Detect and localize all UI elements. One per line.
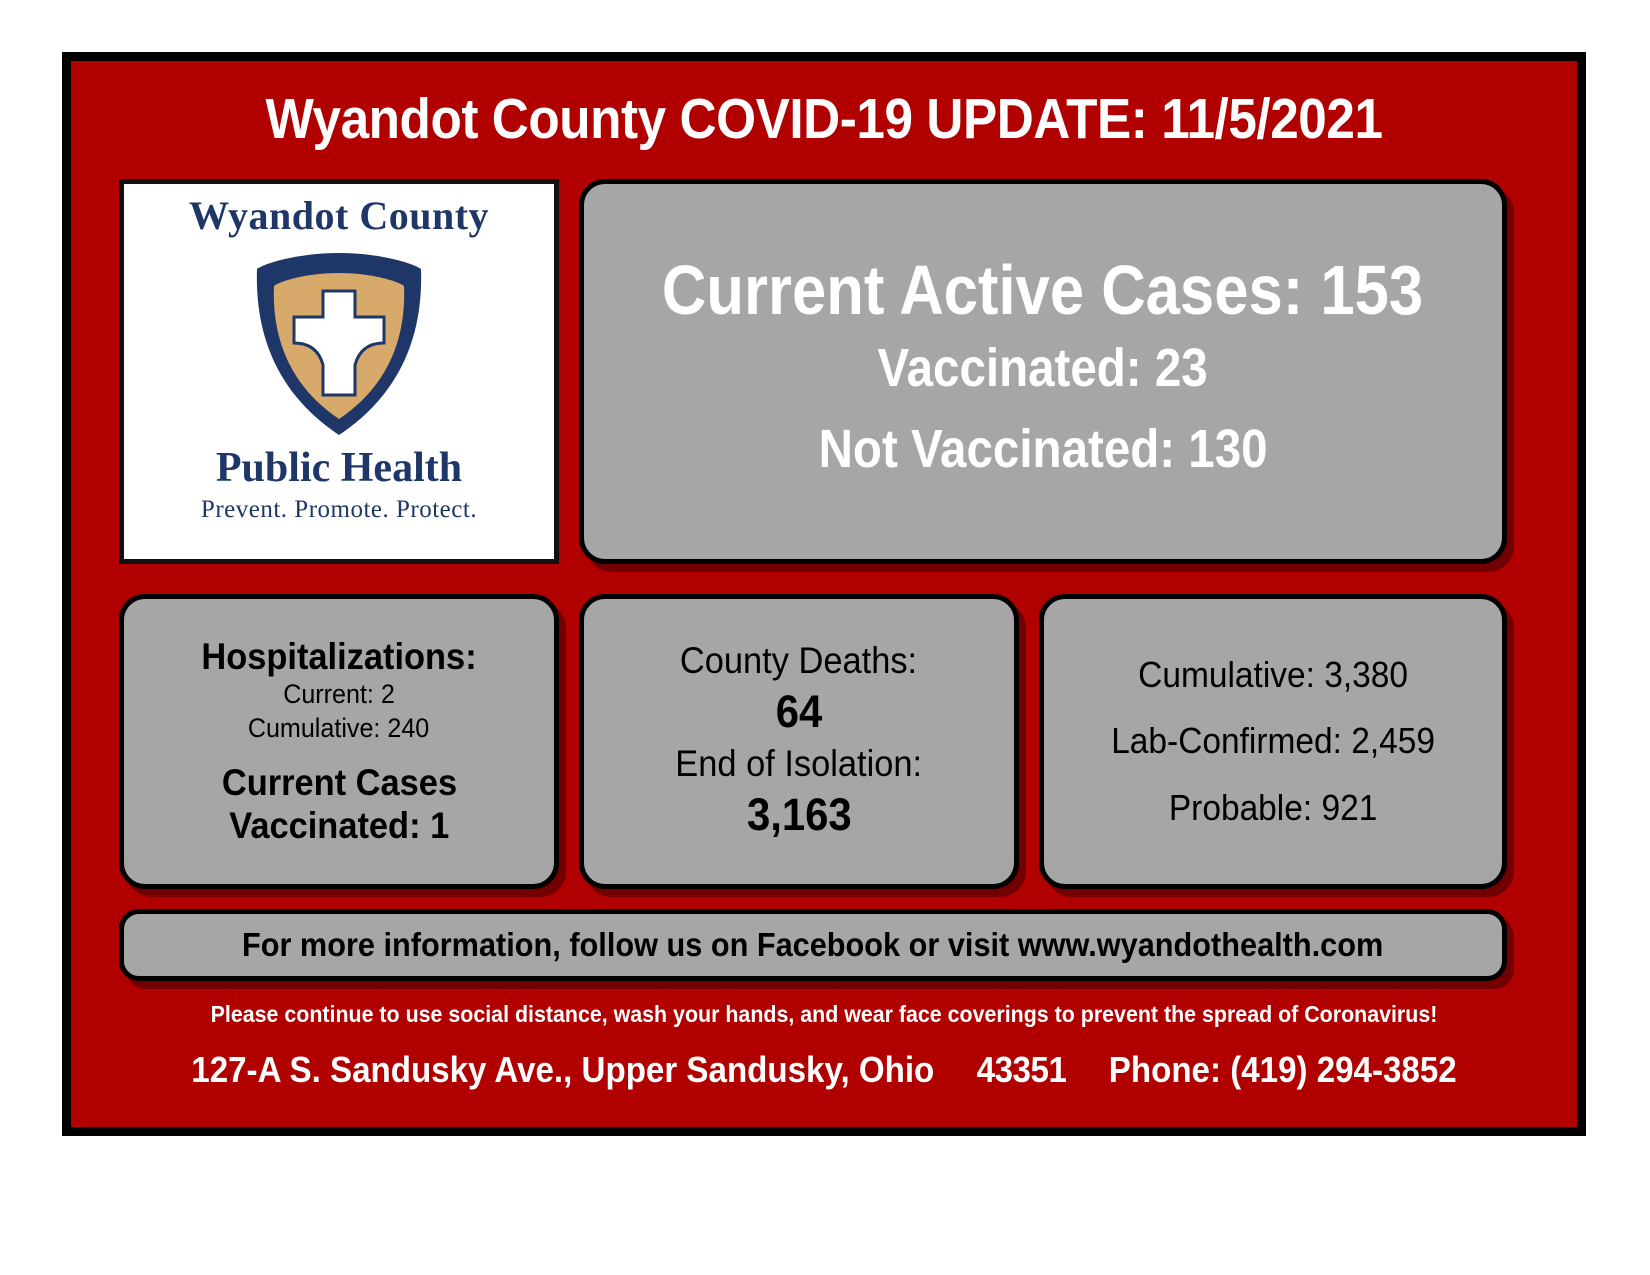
county-deaths-count: 64 <box>776 683 823 742</box>
active-cases-headline: Current Active Cases: 153 <box>662 253 1423 329</box>
hospitalizations-cumulative: Cumulative: 240 <box>248 712 429 746</box>
logo-line-2: Public Health <box>216 447 462 489</box>
active-cases-card: Current Active Cases: 153 Vaccinated: 23… <box>579 179 1507 564</box>
safety-disclaimer: Please continue to use social distance, … <box>124 1001 1525 1028</box>
logo-line-1: Wyandot County <box>189 196 489 236</box>
cumulative-cases-card: Cumulative: 3,380 Lab-Confirmed: 2,459 P… <box>1039 594 1507 889</box>
cumulative-total: Cumulative: 3,380 <box>1138 642 1408 709</box>
phone-number: Phone: (419) 294-3852 <box>1109 1049 1457 1090</box>
page-title: Wyandot County COVID-19 UPDATE: 11/5/202… <box>146 91 1501 148</box>
end-of-isolation-count: 3,163 <box>747 786 852 845</box>
hospitalizations-card: Hospitalizations: Current: 2 Cumulative:… <box>119 594 559 889</box>
cumulative-probable: Probable: 921 <box>1169 775 1377 842</box>
county-deaths-card: County Deaths: 64 End of Isolation: 3,16… <box>579 594 1019 889</box>
zip-code: 43351 <box>977 1049 1067 1090</box>
shield-cross-icon <box>239 240 439 445</box>
active-cases-vaccinated: Vaccinated: 23 <box>878 328 1208 409</box>
logo-tagline: Prevent. Promote. Protect. <box>201 497 477 522</box>
agency-logo-card: Wyandot County Public Health Prevent. Pr… <box>119 179 559 564</box>
current-cases-vaccinated: Vaccinated: 1 <box>229 805 449 848</box>
active-cases-not-vaccinated: Not Vaccinated: 130 <box>819 409 1268 490</box>
county-deaths-heading: County Deaths: <box>680 639 917 683</box>
hospitalizations-heading: Hospitalizations: <box>201 636 476 679</box>
more-information-banner: For more information, follow us on Faceb… <box>119 909 1507 981</box>
poster-frame: Wyandot County COVID-19 UPDATE: 11/5/202… <box>62 52 1586 1136</box>
contact-line: 127-A S. Sandusky Ave., Upper Sandusky, … <box>131 1049 1517 1091</box>
cumulative-lab-confirmed: Lab-Confirmed: 2,459 <box>1111 708 1435 775</box>
address-text: 127-A S. Sandusky Ave., Upper Sandusky, … <box>191 1049 934 1090</box>
hospitalizations-current: Current: 2 <box>283 678 395 712</box>
end-of-isolation-label: End of Isolation: <box>676 742 923 786</box>
more-information-text: For more information, follow us on Faceb… <box>242 926 1383 964</box>
current-cases-label: Current Cases <box>221 762 456 805</box>
